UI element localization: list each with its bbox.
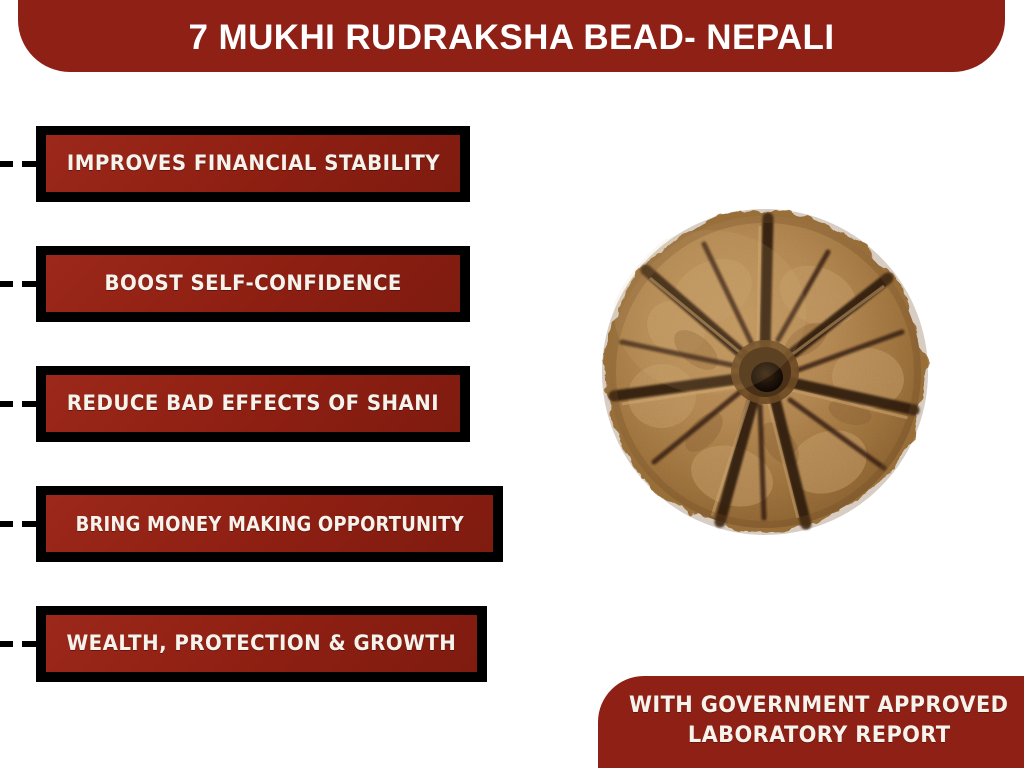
benefit-box-2[interactable]: BOOST SELF-CONFIDENCE [36, 246, 470, 322]
title-banner: 7 MUKHI RUDRAKSHA BEAD- NEPALI [18, 0, 1005, 72]
benefit-item-3[interactable]: REDUCE BAD EFFECTS OF SHANI [0, 366, 470, 442]
rudraksha-bead-image [592, 200, 938, 550]
benefit-box-inner-3: REDUCE BAD EFFECTS OF SHANI [46, 375, 460, 432]
benefit-label-3: REDUCE BAD EFFECTS OF SHANI [67, 393, 439, 414]
benefit-label-1: IMPROVES FINANCIAL STABILITY [66, 153, 439, 174]
benefit-box-4[interactable]: BRING MONEY MAKING OPPORTUNITY [36, 486, 503, 562]
infographic-poster: 7 MUKHI RUDRAKSHA BEAD- NEPALI IMPROVES … [0, 0, 1024, 768]
connector-dashes-3 [0, 401, 36, 407]
connector-dashes-1 [0, 161, 36, 167]
benefit-box-inner-2: BOOST SELF-CONFIDENCE [46, 255, 460, 312]
footer-banner: WITH GOVERNMENT APPROVED LABORATORY REPO… [598, 676, 1024, 768]
benefit-label-5: WEALTH, PROTECTION & GROWTH [66, 633, 456, 654]
benefit-label-4: BRING MONEY MAKING OPPORTUNITY [76, 514, 464, 534]
benefit-item-4[interactable]: BRING MONEY MAKING OPPORTUNITY [0, 486, 470, 562]
benefit-label-2: BOOST SELF-CONFIDENCE [104, 273, 401, 294]
benefit-box-3[interactable]: REDUCE BAD EFFECTS OF SHANI [36, 366, 470, 442]
connector-dashes-4 [0, 521, 36, 527]
footer-line-1: WITH GOVERNMENT APPROVED [629, 691, 1008, 721]
benefit-box-inner-5: WEALTH, PROTECTION & GROWTH [46, 615, 477, 672]
rudraksha-bead-illustration [592, 200, 938, 550]
benefit-box-inner-4: BRING MONEY MAKING OPPORTUNITY [46, 495, 493, 552]
connector-dashes-2 [0, 281, 36, 287]
benefit-box-5[interactable]: WEALTH, PROTECTION & GROWTH [36, 606, 487, 682]
benefit-item-2[interactable]: BOOST SELF-CONFIDENCE [0, 246, 470, 322]
benefit-box-1[interactable]: IMPROVES FINANCIAL STABILITY [36, 126, 470, 202]
footer-line-2: LABORATORY REPORT [688, 721, 951, 751]
benefits-list: IMPROVES FINANCIAL STABILITY BOOST SELF-… [0, 120, 470, 690]
connector-dashes-5 [0, 641, 36, 647]
benefit-item-1[interactable]: IMPROVES FINANCIAL STABILITY [0, 126, 470, 202]
page-title: 7 MUKHI RUDRAKSHA BEAD- NEPALI [189, 20, 835, 64]
benefit-item-5[interactable]: WEALTH, PROTECTION & GROWTH [0, 606, 470, 682]
benefit-box-inner-1: IMPROVES FINANCIAL STABILITY [46, 135, 460, 192]
